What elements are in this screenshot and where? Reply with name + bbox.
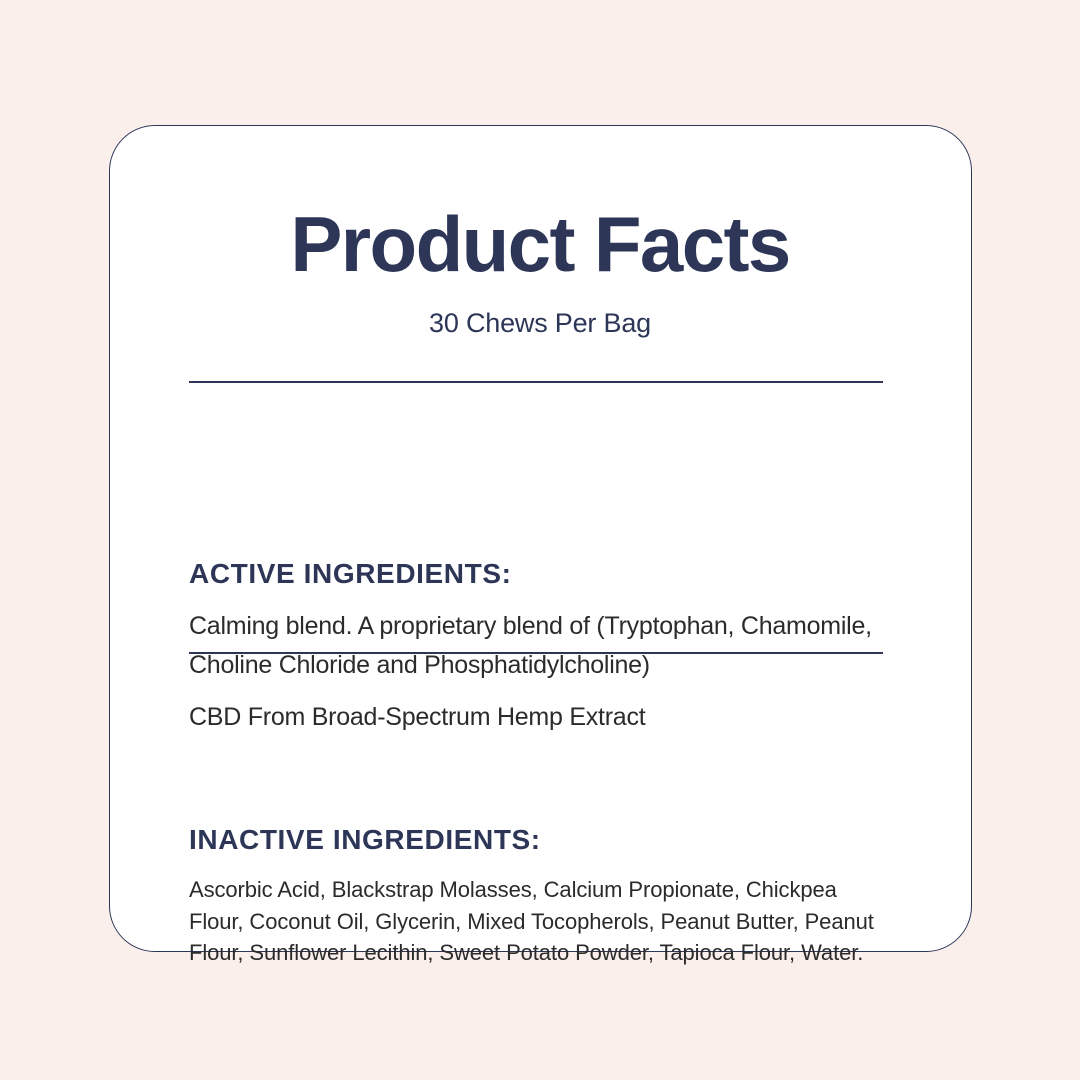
active-ingredients-heading: ACTIVE INGREDIENTS: — [189, 557, 512, 591]
product-facts-card: Product Facts 30 Chews Per Bag ACTIVE IN… — [109, 125, 972, 952]
serving-count-subtitle: 30 Chews Per Bag — [110, 307, 970, 339]
product-facts-page: Product Facts 30 Chews Per Bag ACTIVE IN… — [0, 0, 1080, 1080]
page-title: Product Facts — [110, 202, 970, 286]
active-ingredients-blend-text: Calming blend. A proprietary blend of (T… — [189, 607, 895, 685]
inactive-ingredients-heading: INACTIVE INGREDIENTS: — [189, 823, 541, 857]
active-ingredients-cbd-text: CBD From Broad-Spectrum Hemp Extract — [189, 698, 895, 737]
inactive-ingredients-text: Ascorbic Acid, Blackstrap Molasses, Calc… — [189, 874, 889, 969]
divider-middle — [189, 652, 883, 654]
divider-top — [189, 381, 883, 383]
card-content: Product Facts 30 Chews Per Bag ACTIVE IN… — [189, 126, 889, 951]
